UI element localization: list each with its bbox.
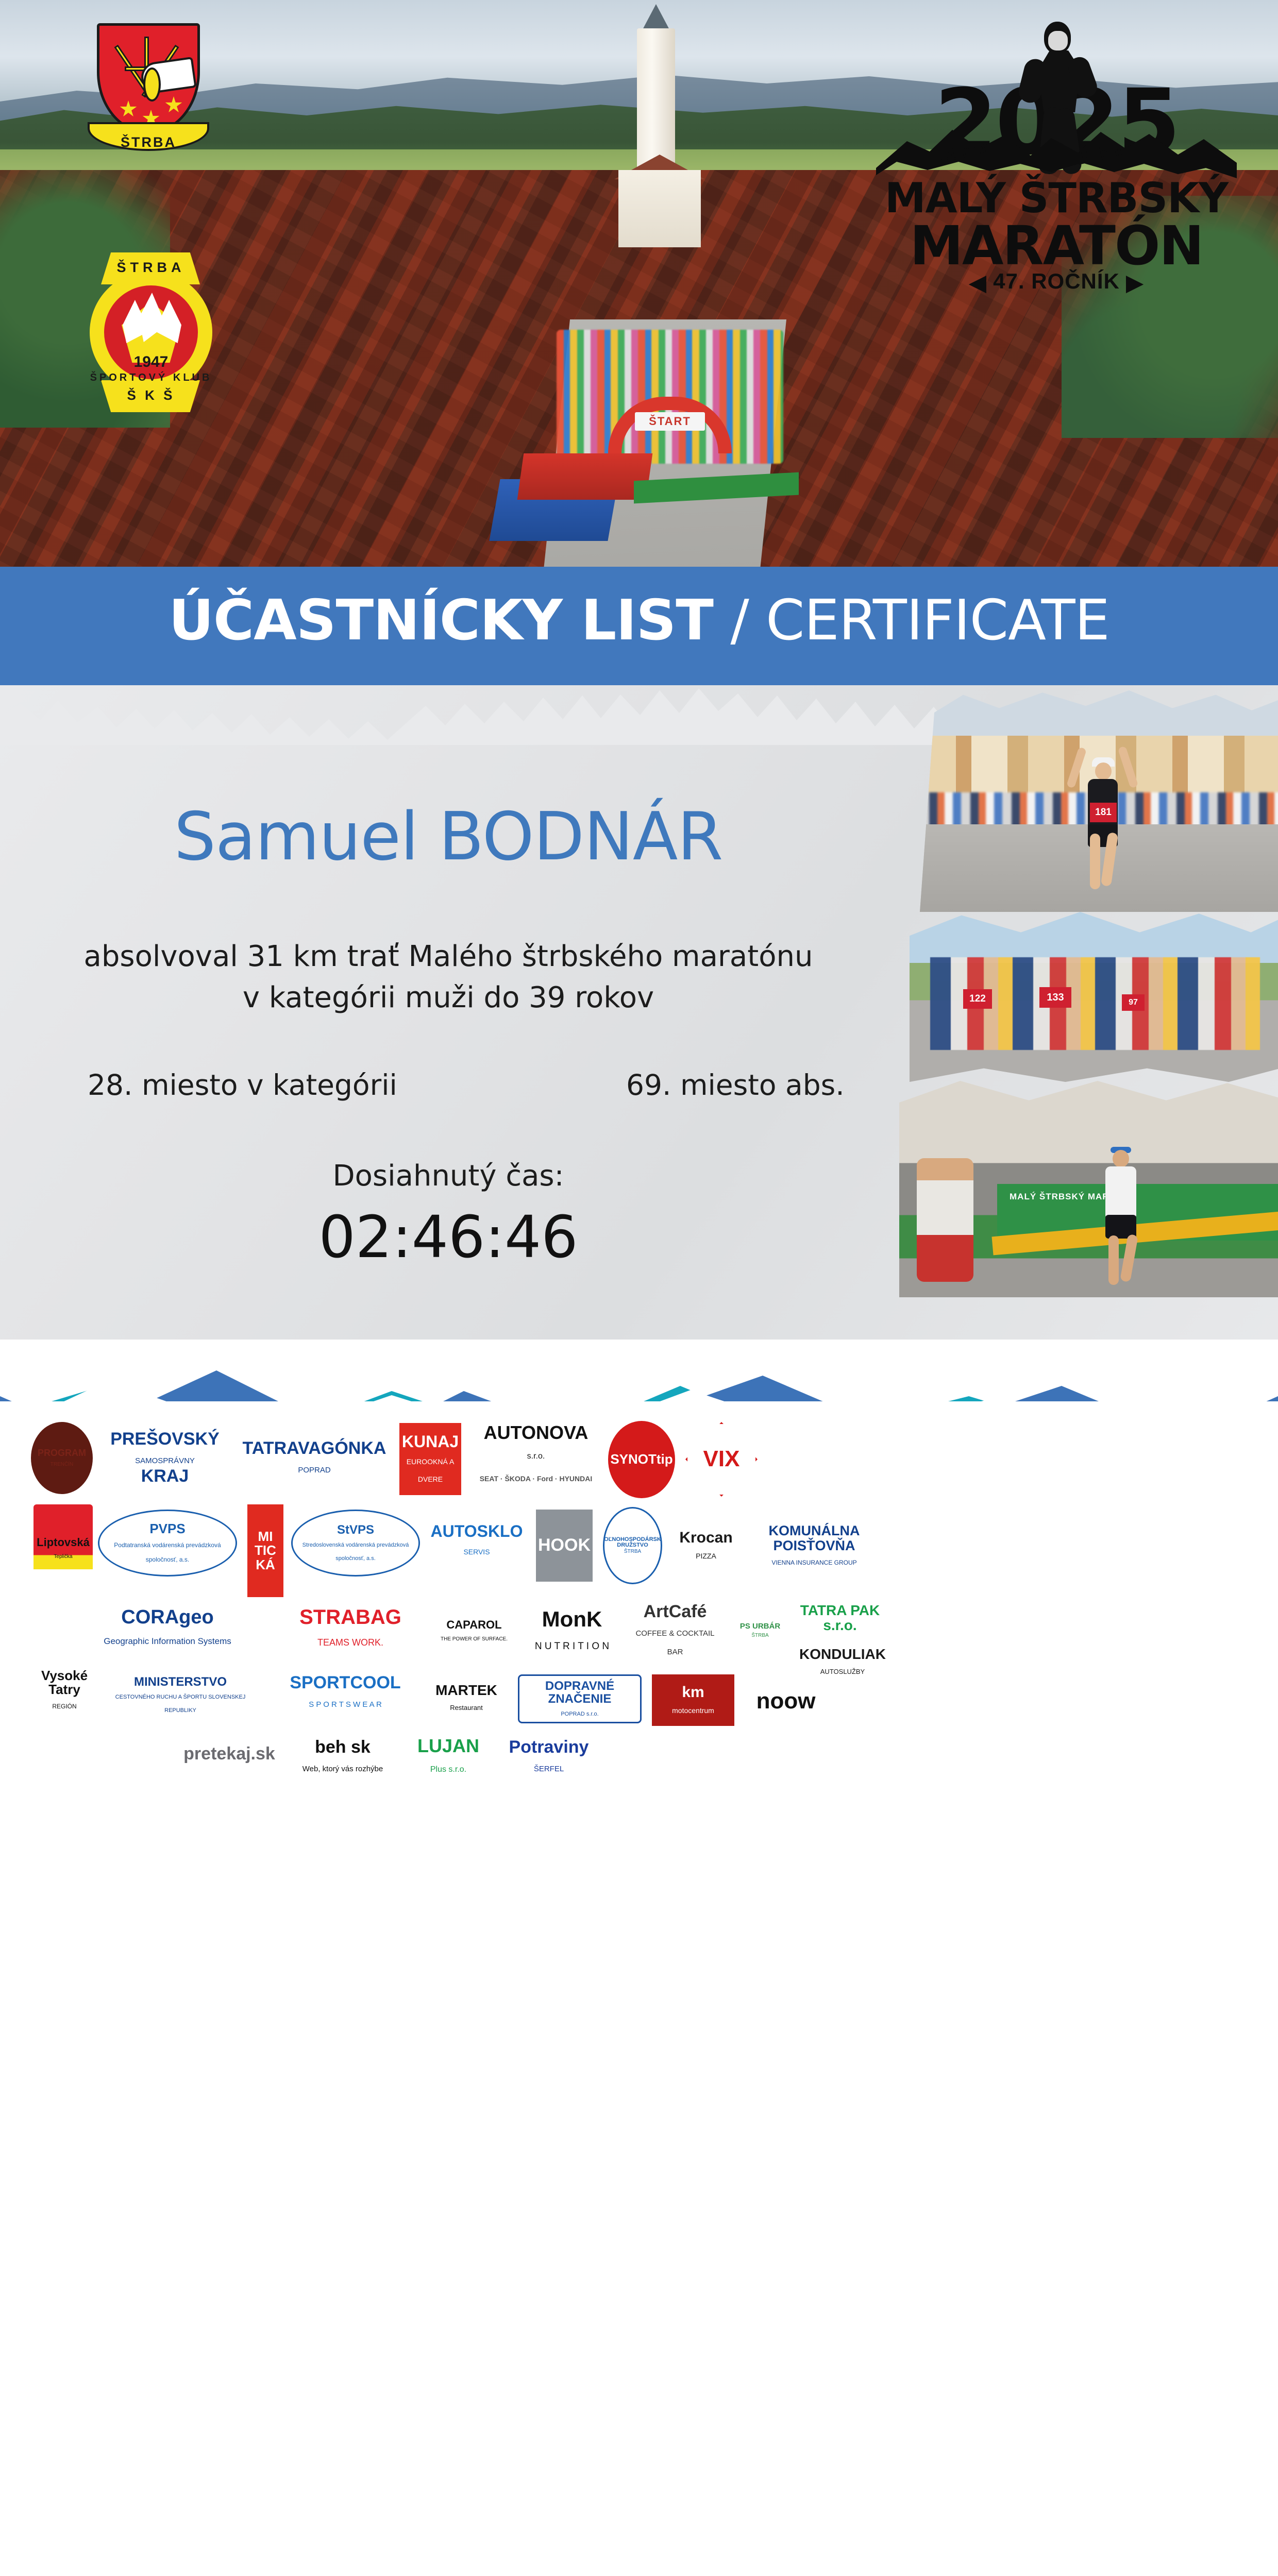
sponsor-logo-km-motocentrum: kmmotocentrum [652, 1674, 734, 1726]
triangle-left-icon: ◀ [969, 270, 986, 295]
sponsor-logo-lujan-plus: LUJANPlus s.r.o. [410, 1731, 487, 1780]
sponsor-logo-program-trencin: PROGRAMTRENČÍN [31, 1422, 93, 1494]
sponsor-logo-stvps: StVPSStredoslovenská vodárenská prevádzk… [291, 1510, 420, 1577]
title-separator: / [713, 588, 766, 653]
crest-ribbon-label: ŠTRBA [90, 134, 207, 150]
sponsor-name: SEAT · ŠKODA · Ford · HYUNDAI [479, 1474, 594, 1484]
sponsor-logo-vix: VIX [685, 1422, 758, 1497]
sponsor-name: LUJANPlus s.r.o. [416, 1735, 480, 1776]
sponsor-name: ArtCaféCOFFEE & COCKTAIL BAR [626, 1602, 724, 1659]
athlete-name: Samuel BODNÁR [0, 799, 897, 875]
sponsor-logo-vysoke-tatry: Vysoké TatryREGIÓN [31, 1649, 98, 1731]
sponsor-logo-strabag: STRABAGTEAMS WORK. [289, 1602, 412, 1654]
sponsor-logo-sportcool: SPORTCOOLS P O R T S W E A R [283, 1664, 407, 1721]
sponsor-name: MI TIC KÁ [247, 1529, 283, 1573]
sponsor-logo-tatrapak: TATRA PAK s.r.o. [794, 1597, 886, 1638]
sponsor-logo-car-brands: SEAT · ŠKODA · Ford · HYUNDAI [472, 1463, 600, 1494]
finish-time-value: 02:46:46 [0, 1204, 897, 1271]
event-edition-label: ◀ 47. ROČNÍK ▶ [861, 269, 1252, 295]
sponsor-name: PS URBÁRŠTRBA [739, 1621, 781, 1640]
certificate-title-band: ÚČASTNÍCKY LIST / CERTIFICATE [0, 567, 1278, 690]
finish-time-label: Dosiahnutý čas: [0, 1159, 897, 1193]
sportovy-klub-strba-logo: ŠTRBA 1947 ŠPORTOVÝ KLUB Š K Š [82, 252, 220, 412]
sponsor-logo-hook: HOOK [536, 1510, 593, 1582]
title-bold-part: ÚČASTNÍCKY LIST [169, 588, 713, 653]
sponsor-name: beh skWeb, ktorý vás rozhýbe [301, 1737, 384, 1776]
sponsor-name: DOPRAVNÉ ZNAČENIEPOPRAD s.r.o. [519, 1679, 640, 1720]
sponsor-name: PREŠOVSKÝSAMOSPRÁVNYKRAJ [109, 1429, 221, 1486]
sponsor-logo-caparol: CAPAROLTHE POWER OF SURFACE. [428, 1600, 520, 1662]
sponsor-name: TATRA PAK s.r.o. [794, 1602, 886, 1634]
certificate-content: Samuel BODNÁR absolvoval 31 km trať Malé… [0, 742, 897, 1340]
sponsor-name: AUTONOVAs.r.o. [483, 1422, 590, 1463]
sponsor-name: VIX [702, 1446, 741, 1472]
title-normal-part: CERTIFICATE [766, 588, 1109, 653]
photo-collage: 181 122 133 97 MALÝ ŠTRBSKÝ MARATÓN [889, 685, 1278, 1340]
sponsor-logo-pvps: PVPSPodtatranská vodárenská prevádzková … [98, 1510, 237, 1577]
event-logo: 2025 31 km 10 km MALÝ ŠTRBSKÝ MARATÓN ◀ … [861, 21, 1252, 227]
bib-number: 133 [1039, 987, 1071, 1008]
sponsor-name: MINISTERSTVOCESTOVNÉHO RUCHU A ŠPORTU SL… [103, 1674, 258, 1716]
sponsor-name: KONDULIAKAUTOSLUŽBY [798, 1646, 887, 1678]
sponsor-name: StVPSStredoslovenská vodárenská prevádzk… [293, 1522, 418, 1564]
sponsor-logo-potraviny-serfel: PotravinyŠERFEL [500, 1734, 598, 1780]
sponsor-logo-corageo: CORAgeoGeographic Information Systems [95, 1600, 240, 1656]
sponsor-name: SYNOTtip [609, 1451, 674, 1467]
bib-number: 122 [963, 989, 992, 1009]
sponsor-logo-martek-restaurant: MARTEKRestaurant [423, 1667, 510, 1728]
red-tent [517, 453, 653, 500]
sponsor-name: POĽNOHOSPODÁRSKE DRUŽSTVOŠTRBA [603, 1536, 662, 1556]
sponsors-section: PROGRAMTRENČÍNPREŠOVSKÝSAMOSPRÁVNYKRAJTA… [0, 1401, 1278, 1807]
description-line-1: absolvoval 31 km trať Malého štrbského m… [0, 936, 897, 977]
sponsor-name: PotravinyŠERFEL [508, 1737, 590, 1776]
photo-finish-line: MALÝ ŠTRBSKÝ MARATÓN [899, 1081, 1278, 1297]
crest-ribbon: ŠTRBA [88, 122, 209, 151]
event-title-line2: MARATÓN [861, 214, 1252, 277]
sponsor-name: noow [755, 1688, 817, 1714]
sponsor-logo-ministerstvo: MINISTERSTVOCESTOVNÉHO RUCHU A ŠPORTU SL… [103, 1659, 258, 1731]
sponsor-name: kmmotocentrum [671, 1683, 715, 1718]
cuff-icon [143, 67, 161, 101]
sponsor-name: LiptovskáTeplička [36, 1535, 91, 1561]
sponsor-name: KUNAJEUROOKNÁ A DVERE [399, 1432, 461, 1486]
category-placement: 28. miesto v kategórii [88, 1069, 397, 1101]
sponsor-logo-presovsky-kraj: PREŠOVSKÝSAMOSPRÁVNYKRAJ [98, 1427, 232, 1489]
sponsor-logo-autonova: AUTONOVAs.r.o. [472, 1422, 600, 1463]
sponsor-logo-liptovska-teplicka: LiptovskáTeplička [33, 1504, 93, 1592]
event-edition-text: 47. ROČNÍK [993, 269, 1120, 293]
sponsor-name: HOOK [537, 1535, 592, 1556]
sponsor-logo-autosklo-servis: AUTOSKLOSERVIS [428, 1515, 526, 1566]
sponsor-logo-grid: PROGRAMTRENČÍNPREŠOVSKÝSAMOSPRÁVNYKRAJTA… [21, 1406, 897, 1736]
sponsor-name: AUTOSKLOSERVIS [430, 1522, 524, 1558]
strba-coat-of-arms: ŠTRBA [88, 23, 211, 152]
page-title: ÚČASTNÍCKY LIST / CERTIFICATE [0, 588, 1278, 653]
absolute-placement: 69. miesto abs. [626, 1069, 845, 1101]
sponsor-name: MARTEKRestaurant [434, 1682, 498, 1714]
sponsor-name: TATRAVAGÓNKAPOPRAD [242, 1438, 388, 1477]
sponsor-name: SPORTCOOLS P O R T S W E A R [289, 1673, 401, 1711]
club-logo-bottom-text: Š K Š [82, 387, 220, 403]
sponsor-logo-beh-sk: beh skWeb, ktorý vás rozhýbe [294, 1734, 392, 1780]
church-nave [618, 170, 701, 247]
sponsor-name: KrocanPIZZA [678, 1529, 733, 1563]
club-logo-year: 1947 [82, 353, 220, 371]
sponsor-name: pretekaj.sk [182, 1744, 276, 1765]
sponsor-name: STRABAGTEAMS WORK. [298, 1605, 402, 1651]
sponsor-logo-dopravne-znacenie: DOPRAVNÉ ZNAČENIEPOPRAD s.r.o. [518, 1674, 642, 1723]
mountain-range-icon [876, 118, 1237, 180]
sponsor-logo-monk-nutrition: MonKN U T R I T I O N [526, 1605, 618, 1656]
sponsor-name: MonKN U T R I T I O N [534, 1607, 610, 1654]
sponsor-logo-synottip: SYNOTtip [608, 1421, 675, 1498]
sponsor-logo-kunaj: KUNAJEUROOKNÁ A DVERE [399, 1423, 461, 1495]
bib-number: 97 [1122, 994, 1145, 1011]
sponsor-logo-komunalna-poistovna: KOMUNÁLNA POISŤOVŇAVIENNA INSURANCE GROU… [747, 1517, 881, 1574]
sponsor-name: Vysoké TatryREGIÓN [31, 1668, 98, 1712]
sponsor-logo-miticka: MI TIC KÁ [247, 1504, 283, 1597]
sponsor-logo-krocan-pizza: KrocanPIZZA [672, 1510, 739, 1582]
club-logo-top-text: ŠTRBA [82, 260, 220, 276]
triangle-right-icon: ▶ [1126, 270, 1144, 295]
description-line-2: v kategórii muži do 39 rokov [0, 977, 897, 1019]
sponsor-logo-tatravagonka-poprad: TATRAVAGÓNKAPOPRAD [237, 1430, 392, 1486]
bib-number: 181 [1090, 803, 1117, 822]
photo-female-finisher: 181 [920, 690, 1278, 912]
sponsor-name: CAPAROLTHE POWER OF SURFACE. [440, 1618, 509, 1643]
sponsor-logo-noow: noow [747, 1677, 825, 1726]
sponsor-name: PROGRAMTRENČÍN [37, 1447, 87, 1469]
photo-runners-group: 122 133 97 [910, 912, 1278, 1082]
placement-row: 28. miesto v kategórii 69. miesto abs. [0, 1069, 897, 1103]
sponsor-logo-pd-strba: POĽNOHOSPODÁRSKE DRUŽSTVOŠTRBA [603, 1507, 662, 1584]
club-logo-arc-text: ŠPORTOVÝ KLUB [82, 372, 220, 384]
sponsor-name: KOMUNÁLNA POISŤOVŇAVIENNA INSURANCE GROU… [747, 1522, 881, 1568]
sponsor-logo-pretekaj-sk: pretekaj.sk [175, 1731, 283, 1777]
sponsor-name: PVPSPodtatranská vodárenská prevádzková … [99, 1521, 236, 1565]
start-arch-label: ŠTART [635, 412, 705, 431]
sponsor-logo-artcafe: ArtCaféCOFFEE & COCKTAIL BAR [626, 1600, 724, 1662]
achievement-description: absolvoval 31 km trať Malého štrbského m… [0, 936, 897, 1018]
sponsor-name: CORAgeoGeographic Information Systems [103, 1606, 232, 1650]
sponsor-logo-ps-urbar-strba: PS URBÁRŠTRBA [732, 1597, 788, 1664]
